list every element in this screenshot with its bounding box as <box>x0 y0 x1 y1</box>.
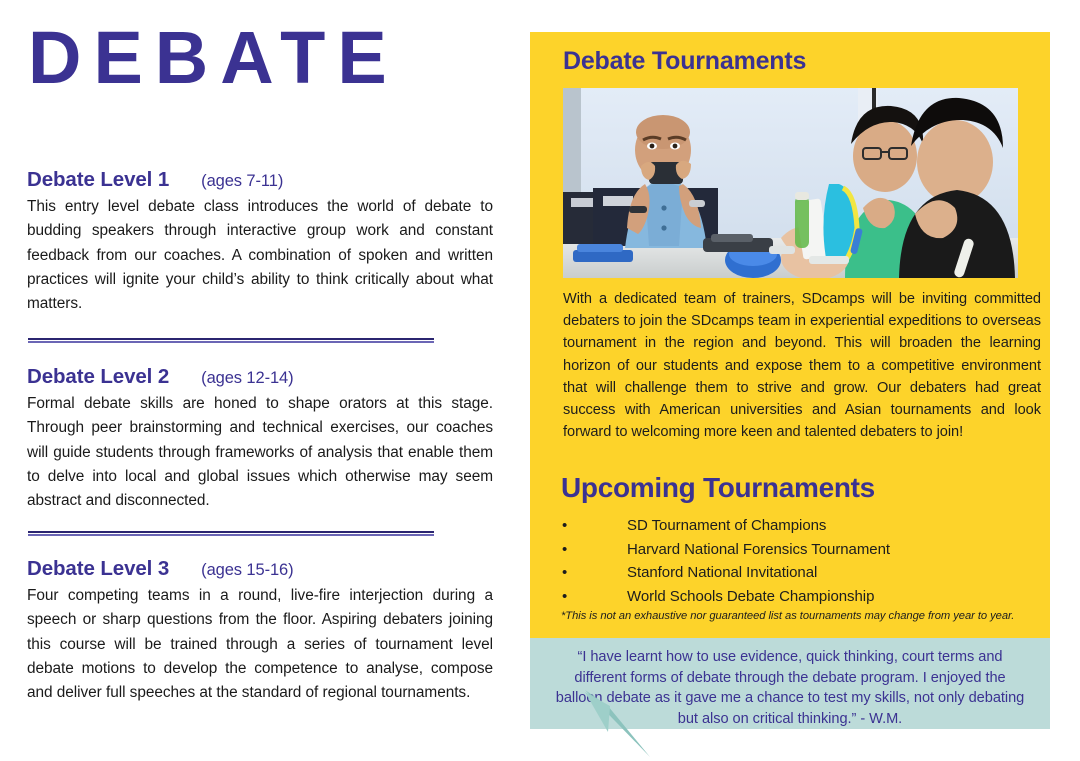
section-divider <box>28 338 434 343</box>
list-item: • Stanford National Invitational <box>562 561 1022 585</box>
course-level-header: Debate Level 3 (ages 15-16) <box>27 557 493 581</box>
course-level-name: Debate Level 3 <box>27 557 169 581</box>
divider-line-thin <box>28 341 434 343</box>
debate-classroom-photo <box>563 88 1018 278</box>
upcoming-tournaments-list: • SD Tournament of Champions • Harvard N… <box>562 514 1022 609</box>
course-level-header: Debate Level 1 (ages 7-11) <box>27 168 493 192</box>
list-item-label: Stanford National Invitational <box>627 564 817 581</box>
bullet-icon: • <box>562 538 567 562</box>
course-level-description: Four competing teams in a round, live-fi… <box>27 584 493 706</box>
course-level-ages: (ages 15-16) <box>201 561 293 580</box>
tournaments-panel: Debate Tournaments <box>530 32 1050 638</box>
list-item: • World Schools Debate Championship <box>562 585 1022 609</box>
list-item: • Harvard National Forensics Tournament <box>562 538 1022 562</box>
bullet-icon: • <box>562 585 567 609</box>
testimonial-quote-box: “I have learnt how to use evidence, quic… <box>530 638 1050 729</box>
course-level-header: Debate Level 2 (ages 12-14) <box>27 365 493 389</box>
course-level-description: This entry level debate class introduces… <box>27 195 493 317</box>
upcoming-tournaments-title: Upcoming Tournaments <box>561 472 875 504</box>
course-level-description: Formal debate skills are honed to shape … <box>27 392 493 514</box>
course-level-name: Debate Level 2 <box>27 365 169 389</box>
tournaments-footnote: *This is not an exhaustive nor guarantee… <box>561 610 1031 622</box>
tournaments-paragraph: With a dedicated team of trainers, SDcam… <box>563 288 1041 443</box>
testimonial-quote-text: “I have learnt how to use evidence, quic… <box>552 647 1028 730</box>
list-item: • SD Tournament of Champions <box>562 514 1022 538</box>
course-level-ages: (ages 12-14) <box>201 369 293 388</box>
divider-line-thin <box>28 534 434 536</box>
left-content-column: DEBATE Debate Level 1 (ages 7-11) This e… <box>0 0 520 761</box>
course-level-block: Debate Level 1 (ages 7-11) This entry le… <box>27 168 493 317</box>
course-level-block: Debate Level 2 (ages 12-14) Formal debat… <box>27 365 493 514</box>
list-item-label: World Schools Debate Championship <box>627 588 874 605</box>
page-title: DEBATE <box>28 21 399 95</box>
section-divider <box>28 531 434 536</box>
bullet-icon: • <box>562 514 567 538</box>
course-level-block: Debate Level 3 (ages 15-16) Four competi… <box>27 557 493 706</box>
bullet-icon: • <box>562 561 567 585</box>
list-item-label: Harvard National Forensics Tournament <box>627 541 890 558</box>
list-item-label: SD Tournament of Champions <box>627 517 826 534</box>
course-level-name: Debate Level 1 <box>27 168 169 192</box>
course-level-ages: (ages 7-11) <box>201 172 283 191</box>
tournaments-panel-title: Debate Tournaments <box>563 47 806 76</box>
